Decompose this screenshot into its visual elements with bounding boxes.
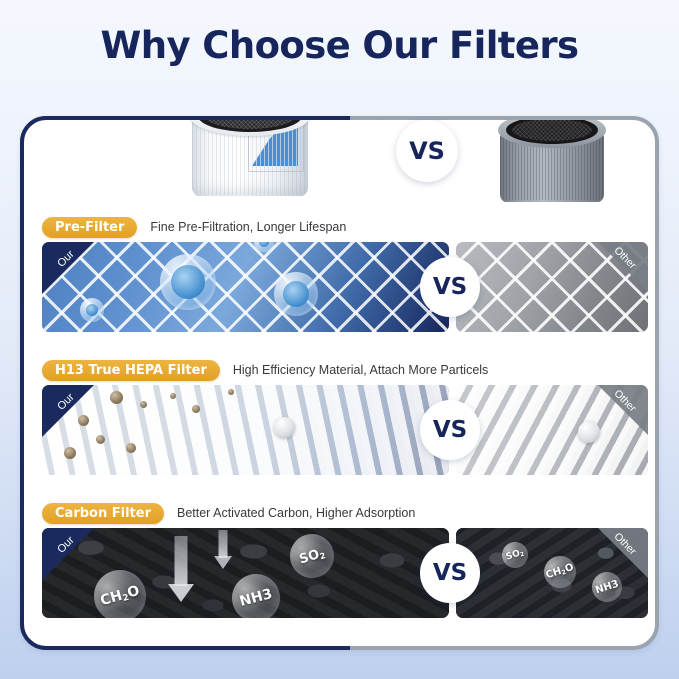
section-subtitle: High Efficiency Material, Attach More Pa… xyxy=(233,363,488,377)
other-filter-top-mesh xyxy=(512,119,592,141)
particle-bubble xyxy=(160,254,216,310)
vs-badge-hero: VS xyxy=(396,120,458,182)
vs-badge: VS xyxy=(420,400,480,460)
corner-flag-other: Other xyxy=(590,385,648,443)
corner-flag-other: Other xyxy=(590,528,648,586)
dust-particle xyxy=(170,393,176,399)
corner-flag-other: Other xyxy=(590,242,648,300)
badge-hepa-filter: H13 True HEPA Filter xyxy=(42,360,220,381)
panel-other: Other xyxy=(456,242,648,332)
hepa-fiber-texture xyxy=(42,385,449,475)
particle-bubble xyxy=(274,272,318,316)
panel-ours: Our xyxy=(42,242,449,332)
panel-ours: CH2O SO2 NH3 Our xyxy=(42,528,449,618)
dust-particle xyxy=(228,389,234,395)
panel-ours: Our xyxy=(42,385,449,475)
section-pre-filter: Pre-Filter Fine Pre-Filtration, Longer L… xyxy=(24,216,659,346)
page-title: Why Choose Our Filters xyxy=(0,24,679,67)
dust-particle xyxy=(126,443,136,453)
hero-our-filter-image xyxy=(184,116,316,204)
comparison-card: Pre-Filter Fine Pre-Filtration, Longer L… xyxy=(20,116,659,650)
section-hepa-filter: H13 True HEPA Filter High Efficiency Mat… xyxy=(24,359,659,489)
blue-mesh-texture xyxy=(42,242,449,332)
dust-particle xyxy=(64,447,76,459)
particle-bubble xyxy=(80,298,104,322)
corner-flag-ours: Our xyxy=(42,385,100,443)
vs-badge: VS xyxy=(420,257,480,317)
section-header: Pre-Filter Fine Pre-Filtration, Longer L… xyxy=(42,216,346,238)
airflow-arrow xyxy=(214,530,232,570)
badge-carbon-filter: Carbon Filter xyxy=(42,503,164,524)
hero-other-filter-image xyxy=(494,116,610,210)
comparison-panels: Our Other xyxy=(42,385,648,475)
dust-particle xyxy=(110,391,123,404)
section-subtitle: Fine Pre-Filtration, Longer Lifespan xyxy=(150,220,346,234)
vs-badge: VS xyxy=(420,543,480,603)
hero-product-row xyxy=(24,120,659,216)
infographic-page: Why Choose Our Filters xyxy=(0,0,679,679)
panel-other: Other xyxy=(456,385,648,475)
section-header: Carbon Filter Better Activated Carbon, H… xyxy=(42,502,415,524)
comparison-panels: Our Other xyxy=(42,242,648,332)
badge-pre-filter: Pre-Filter xyxy=(42,217,137,238)
airflow-arrow xyxy=(168,536,194,602)
dust-particle xyxy=(192,405,200,413)
section-subtitle: Better Activated Carbon, Higher Adsorpti… xyxy=(177,506,415,520)
corner-flag-ours: Our xyxy=(42,528,100,586)
dust-particle xyxy=(140,401,147,408)
section-header: H13 True HEPA Filter High Efficiency Mat… xyxy=(42,359,488,381)
panel-other: SO2 CH2O NH3 Other xyxy=(456,528,648,618)
trapped-particle xyxy=(274,417,295,438)
section-carbon-filter: Carbon Filter Better Activated Carbon, H… xyxy=(24,502,659,632)
comparison-panels: CH2O SO2 NH3 Our SO2 CH2O NH3 Other xyxy=(42,528,648,618)
corner-flag-ours: Our xyxy=(42,242,100,300)
